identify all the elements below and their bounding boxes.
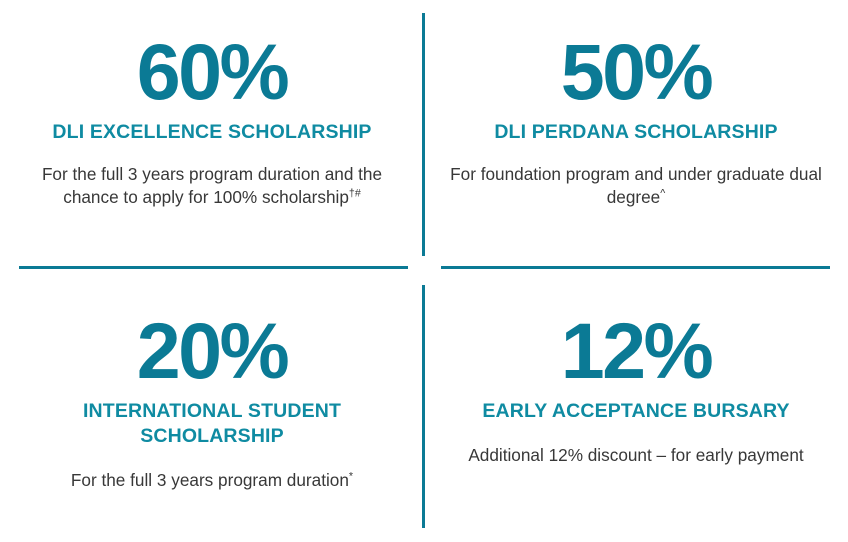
scholarship-description: For the full 3 years program duration* [71, 469, 353, 492]
scholarship-description: Additional 12% discount – for early paym… [468, 444, 803, 467]
description-text: For the full 3 years program duration [71, 470, 349, 490]
scholarship-title: EARLY ACCEPTANCE BURSARY [482, 399, 789, 424]
description-text: For foundation program and under graduat… [450, 164, 822, 207]
description-text: Additional 12% discount – for early paym… [468, 445, 803, 465]
footnote-marker: †# [349, 187, 361, 199]
scholarship-title: INTERNATIONAL STUDENT SCHOLARSHIP [47, 399, 377, 449]
footnote-marker: * [349, 470, 353, 482]
scholarship-card-perdana: 50% DLI PERDANA SCHOLARSHIP For foundati… [424, 0, 848, 271]
percent-value: 12% [561, 313, 712, 389]
scholarship-card-excellence: 60% DLI EXCELLENCE SCHOLARSHIP For the f… [0, 0, 424, 271]
footnote-marker: ^ [660, 187, 665, 199]
scholarship-description: For the full 3 years program duration an… [22, 163, 402, 209]
scholarship-title: DLI PERDANA SCHOLARSHIP [494, 120, 777, 145]
scholarship-card-early-acceptance: 12% EARLY ACCEPTANCE BURSARY Additional … [424, 271, 848, 542]
scholarship-card-international: 20% INTERNATIONAL STUDENT SCHOLARSHIP Fo… [0, 271, 424, 542]
description-text: For the full 3 years program duration an… [42, 164, 382, 207]
percent-value: 20% [137, 313, 288, 389]
scholarship-description: For foundation program and under graduat… [446, 163, 826, 209]
percent-value: 50% [561, 34, 712, 110]
percent-value: 60% [137, 34, 288, 110]
scholarship-grid: 60% DLI EXCELLENCE SCHOLARSHIP For the f… [0, 0, 848, 542]
scholarship-infographic: 60% DLI EXCELLENCE SCHOLARSHIP For the f… [0, 0, 848, 542]
scholarship-title: DLI EXCELLENCE SCHOLARSHIP [52, 120, 371, 145]
